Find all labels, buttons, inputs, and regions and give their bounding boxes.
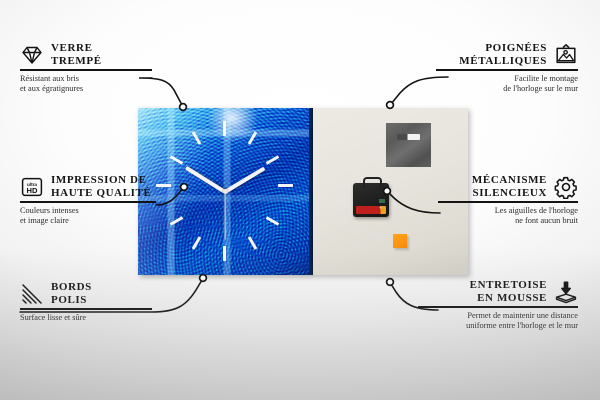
callout-header: MÉCANISME SILENCIEUX (438, 174, 578, 199)
clock-center-cap (223, 189, 228, 194)
infographic-canvas: + (0, 0, 600, 400)
callout-title: IMPRESSION DE HAUTE QUALITÉ (51, 174, 151, 199)
svg-text:HD: HD (27, 186, 38, 195)
mechanism-hook (363, 177, 382, 188)
hanger-slot (397, 134, 420, 140)
clock-tick (223, 121, 226, 136)
callout-header: VERRE TREMPÉ (20, 42, 152, 67)
callout-title: BORDS POLIS (51, 281, 92, 306)
leader-dot-entretoise (387, 279, 394, 286)
leader-dot-bords (200, 275, 207, 282)
callout-rule (20, 69, 152, 71)
callout-header: ENTRETOISE EN MOUSSE (418, 279, 578, 304)
callout-entretoise-en-mousse: ENTRETOISE EN MOUSSE Permet de maintenir… (418, 279, 578, 331)
ultra-hd-icon: ultra HD (20, 175, 44, 199)
callout-rule (20, 308, 152, 310)
callout-title: POIGNÉES MÉTALLIQUES (459, 42, 547, 67)
callout-rule (418, 306, 578, 308)
callout-impression-haute-qualite: ultra HD IMPRESSION DE HAUTE QUALITÉ Cou… (20, 174, 156, 226)
diamond-icon (20, 43, 44, 67)
callout-mecanisme-silencieux: MÉCANISME SILENCIEUX Les aiguilles de l'… (438, 174, 578, 226)
callout-header: BORDS POLIS (20, 281, 152, 306)
metal-hanger-plate (386, 123, 431, 167)
callout-subtitle: Surface lisse et sûre (20, 313, 152, 323)
clock-mechanism: + (353, 183, 389, 217)
mechanism-chip (379, 199, 385, 203)
foam-spacer (393, 234, 407, 248)
callout-rule (436, 69, 578, 71)
gear-icon (554, 175, 578, 199)
callout-title: ENTRETOISE EN MOUSSE (470, 279, 547, 304)
callout-header: POIGNÉES MÉTALLIQUES (436, 42, 578, 67)
clock-hand-second (224, 192, 225, 240)
callout-title: MÉCANISME SILENCIEUX (472, 174, 547, 199)
callout-subtitle: Résistant aux bris et aux égratignures (20, 74, 152, 94)
foam-spacer-arrow-icon (554, 280, 578, 304)
polished-edges-icon (20, 282, 44, 306)
callout-bords-polis: BORDS POLIS Surface lisse et sûre (20, 281, 152, 323)
callout-subtitle: Couleurs intenses et image claire (20, 206, 156, 226)
callout-poignees-metalliques: POIGNÉES MÉTALLIQUES Facilite le montage… (436, 42, 578, 94)
picture-frame-hanger-icon (554, 43, 578, 67)
battery: + (356, 206, 386, 214)
callout-header: ultra HD IMPRESSION DE HAUTE QUALITÉ (20, 174, 156, 199)
callout-subtitle: Permet de maintenir une distance uniform… (418, 311, 578, 331)
clock-front-panel (138, 108, 313, 275)
callout-rule (20, 201, 156, 203)
callout-rule (438, 201, 578, 203)
callout-subtitle: Les aiguilles de l'horloge ne font aucun… (438, 206, 578, 226)
battery-plus-icon: + (378, 207, 383, 212)
callout-subtitle: Facilite le montage de l'horloge sur le … (436, 74, 578, 94)
clock-tick (278, 184, 293, 187)
clock-tick (156, 184, 171, 187)
product-image: + (138, 108, 468, 275)
callout-verre-trempe: VERRE TREMPÉ Résistant aux bris et aux é… (20, 42, 152, 94)
clock-tick (223, 246, 226, 261)
callout-title: VERRE TREMPÉ (51, 42, 102, 67)
